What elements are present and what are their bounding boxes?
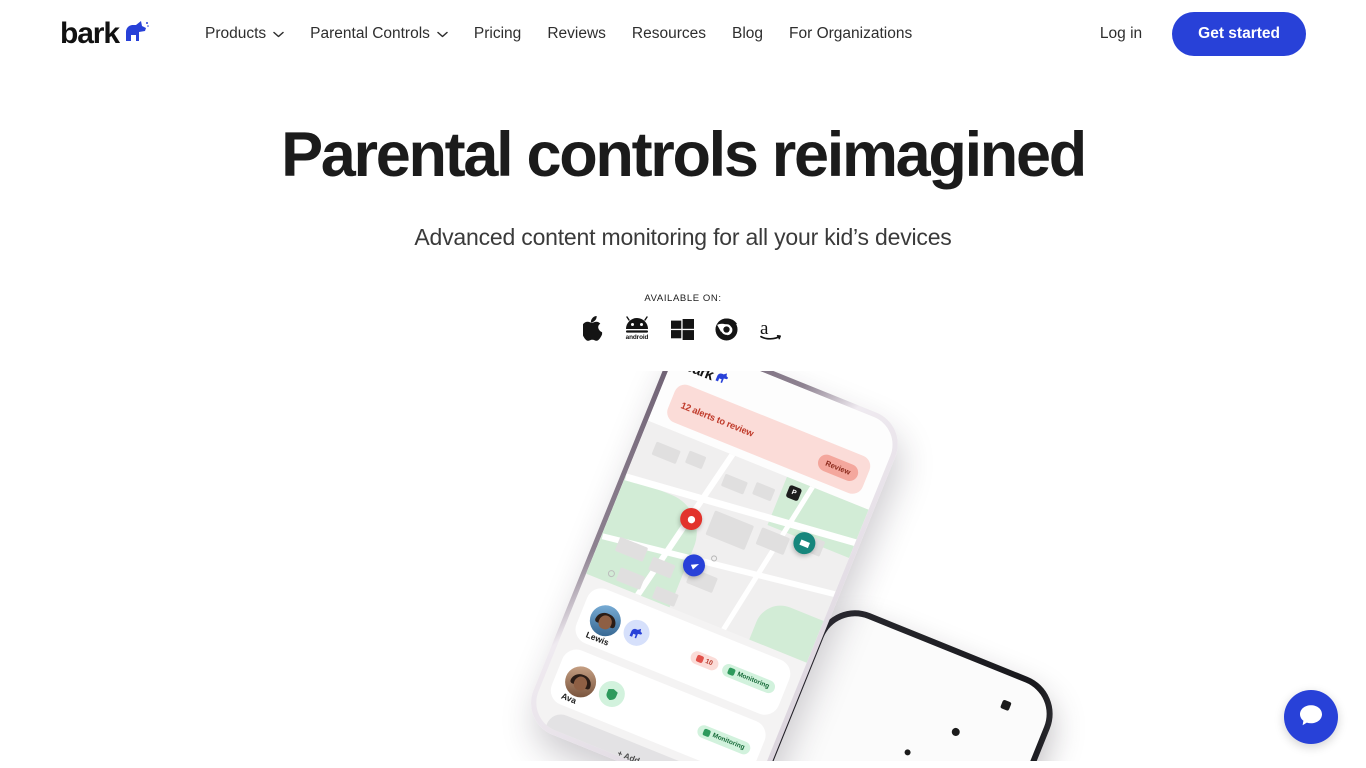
child-status-tags: 10 Monitoring [688,649,777,695]
review-alerts-button[interactable]: Review [815,452,860,484]
hero-section: Parental controls reimagined Advanced co… [0,68,1366,341]
platform-icon-row: android [0,313,1366,341]
logo-wordmark: bark [60,19,119,49]
monitoring-status-tag: Monitoring [696,723,753,756]
chat-widget-button[interactable] [1284,690,1338,744]
bark-dog-logo-icon [712,371,732,390]
hero-subtitle: Advanced content monitoring for all your… [0,224,1366,251]
android-wordmark: android [626,334,649,341]
alert-count-value: 10 [704,658,713,667]
nav-item-products[interactable]: Products [205,25,284,43]
phone-frame: bark 12 alerts to review Review [521,371,908,761]
android-icon: android [624,315,650,341]
nav-links: Products Parental Controls Pricing Revie… [205,25,912,43]
app-logo-wordmark: bark [682,371,716,384]
bark-dog-logo-icon [123,20,149,47]
monitoring-status-label: Monitoring [736,671,770,690]
windows-icon [671,318,694,341]
monitoring-status-label: Monitoring [712,732,746,751]
nav-item-parental-controls-label: Parental Controls [310,25,430,43]
available-on-section: AVAILABLE ON: android [0,293,1366,341]
chevron-down-icon [273,25,284,43]
alerts-banner-text: 12 alerts to review [680,399,756,438]
nav-item-products-label: Products [205,25,266,43]
nav-item-parental-controls[interactable]: Parental Controls [310,25,448,43]
top-navigation-bar: bark Products Parental Controls Pricing … [0,0,1366,68]
chat-bubble-icon [1298,702,1324,733]
shield-check-icon [595,677,629,711]
amazon-icon: a [759,317,783,341]
bark-logo[interactable]: bark [60,19,149,49]
monitoring-status-tag: Monitoring [720,662,777,695]
nav-actions: Log in Get started [1100,12,1306,56]
apple-icon [583,316,603,341]
page-title: Parental controls reimagined [0,122,1366,188]
bark-dog-logo-icon [620,616,654,650]
nav-item-resources[interactable]: Resources [632,25,706,43]
nav-item-reviews[interactable]: Reviews [547,25,606,43]
nav-item-for-organizations[interactable]: For Organizations [789,25,912,43]
nav-item-pricing[interactable]: Pricing [474,25,521,43]
log-in-link[interactable]: Log in [1100,25,1142,43]
chrome-icon [715,318,738,341]
nav-item-blog[interactable]: Blog [732,25,763,43]
available-on-label: AVAILABLE ON: [0,293,1366,304]
phone-screen: bark 12 alerts to review Review [527,371,901,761]
image-fade-left [0,371,470,761]
chevron-down-icon [437,25,448,43]
child-status-tags: Monitoring [696,723,753,756]
hero-product-image: bark 12 alerts to review Review [0,371,1366,761]
alert-count-tag[interactable]: 10 [688,649,720,672]
get-started-button[interactable]: Get started [1172,12,1306,56]
